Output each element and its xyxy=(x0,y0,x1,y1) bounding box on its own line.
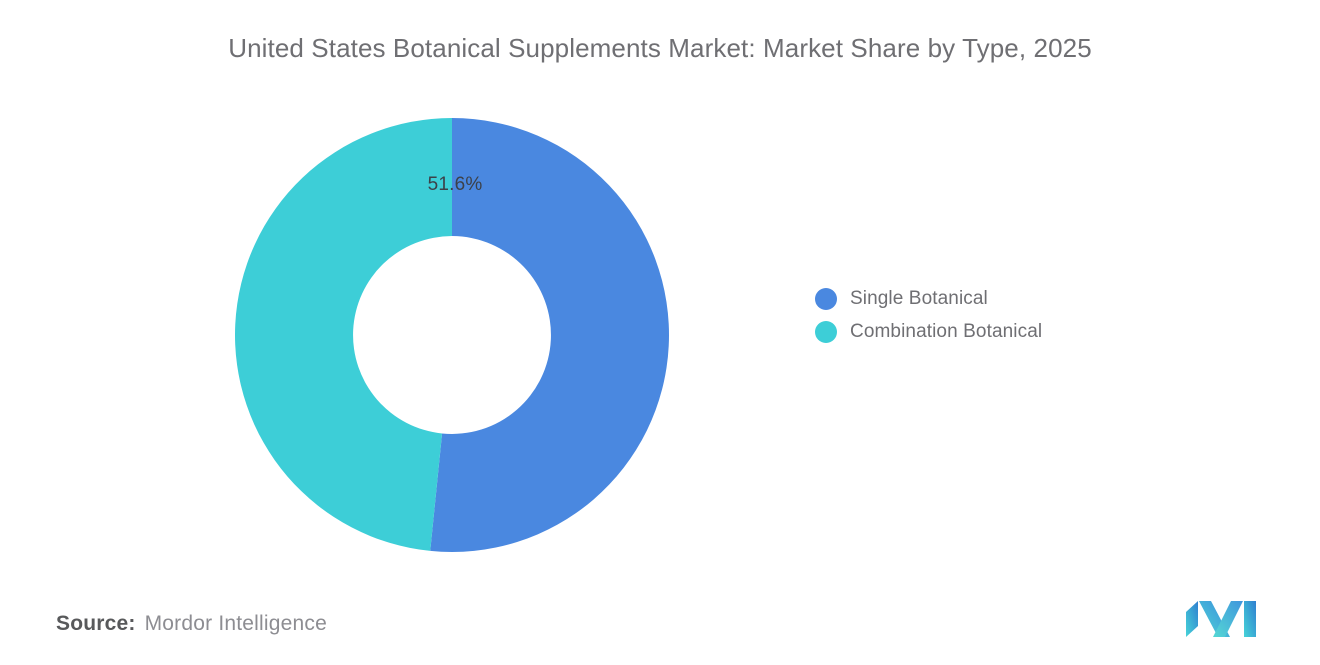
source-value: Mordor Intelligence xyxy=(145,612,327,636)
donut-chart: 51.6% xyxy=(235,118,669,552)
legend-swatch-icon xyxy=(815,321,837,343)
legend-swatch-icon xyxy=(815,288,837,310)
chart-legend: Single Botanical Combination Botanical xyxy=(815,282,1195,348)
slice-percentage-label: 51.6% xyxy=(395,174,515,196)
chart-canvas: United States Botanical Supplements Mark… xyxy=(0,0,1320,665)
mordor-intelligence-logo-icon xyxy=(1185,600,1257,638)
legend-item-label: Single Botanical xyxy=(850,288,988,310)
legend-item-combination-botanical[interactable]: Combination Botanical xyxy=(815,315,1195,348)
source-attribution: Source: Mordor Intelligence xyxy=(56,612,327,636)
legend-item-single-botanical[interactable]: Single Botanical xyxy=(815,282,1195,315)
legend-item-label: Combination Botanical xyxy=(850,321,1042,343)
source-label: Source: xyxy=(56,612,136,636)
page-title: United States Botanical Supplements Mark… xyxy=(0,30,1320,66)
